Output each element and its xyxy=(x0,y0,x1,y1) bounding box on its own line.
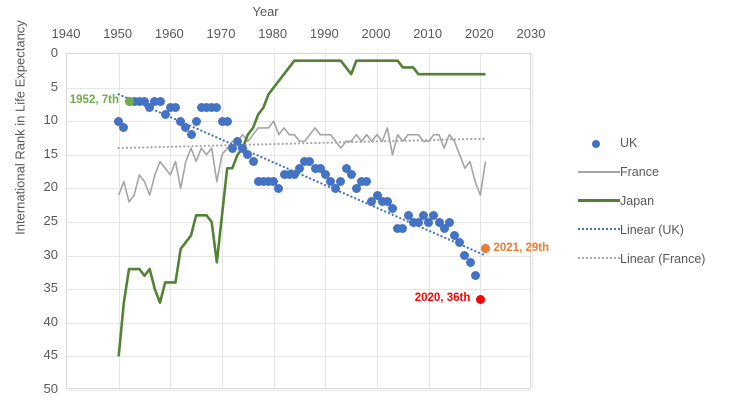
legend-item-label: Linear (France) xyxy=(620,252,705,266)
x-tick-1940: 1940 xyxy=(42,26,90,41)
data-point xyxy=(445,218,454,227)
data-point xyxy=(388,204,397,213)
legend-item-uk[interactable]: UK xyxy=(578,128,738,157)
legend-key-icon xyxy=(578,137,620,149)
legend-key-icon xyxy=(578,224,620,236)
y-axis-title: International Rank in Life Expectancy xyxy=(13,0,28,278)
y-tick-50: 50 xyxy=(32,381,58,396)
series-line-linear-uk- xyxy=(119,94,486,255)
series-line-linear-france- xyxy=(119,139,486,148)
x-tick-1960: 1960 xyxy=(145,26,193,41)
annotation-label: 1952, 7th xyxy=(70,94,119,106)
legend-key-icon xyxy=(578,166,620,178)
x-tick-1990: 1990 xyxy=(300,26,348,41)
x-axis-title: Year xyxy=(0,4,531,19)
chart-container: Year International Rank in Life Expectan… xyxy=(0,0,743,401)
y-tick-0: 0 xyxy=(32,45,58,60)
y-tick-15: 15 xyxy=(32,146,58,161)
data-point xyxy=(249,157,258,166)
legend-key-icon xyxy=(578,195,620,207)
annotation-label: 2020, 36th xyxy=(415,292,471,304)
x-tick-1970: 1970 xyxy=(197,26,245,41)
annotation-marker xyxy=(125,97,134,106)
annotation-marker xyxy=(476,295,485,304)
data-point xyxy=(223,117,232,126)
data-point xyxy=(455,238,464,247)
data-point xyxy=(156,97,165,106)
legend-item-linear-uk[interactable]: Linear (UK) xyxy=(578,215,738,244)
y-tick-45: 45 xyxy=(32,347,58,362)
legend-item-label: France xyxy=(620,165,659,179)
x-tick-1950: 1950 xyxy=(94,26,142,41)
data-point xyxy=(187,130,196,139)
data-point xyxy=(192,117,201,126)
y-tick-40: 40 xyxy=(32,314,58,329)
legend-item-label: Japan xyxy=(620,194,654,208)
data-point xyxy=(466,258,475,267)
x-tick-2000: 2000 xyxy=(352,26,400,41)
data-point xyxy=(471,271,480,280)
y-tick-35: 35 xyxy=(32,280,58,295)
annotation-label: 2021, 29th xyxy=(494,242,550,254)
x-tick-2010: 2010 xyxy=(404,26,452,41)
gridline-horizontal xyxy=(67,390,530,391)
x-tick-1980: 1980 xyxy=(249,26,297,41)
legend-item-label: Linear (UK) xyxy=(620,223,684,237)
legend-key-icon xyxy=(578,253,620,265)
gridline-vertical xyxy=(532,54,533,388)
chart-legend: UKFranceJapanLinear (UK)Linear (France) xyxy=(578,128,738,273)
plot-area: 1952, 7th2021, 29th2020, 36th xyxy=(66,53,531,389)
y-tick-10: 10 xyxy=(32,112,58,127)
x-tick-2030: 2030 xyxy=(507,26,555,41)
legend-item-japan[interactable]: Japan xyxy=(578,186,738,215)
legend-item-france[interactable]: France xyxy=(578,157,738,186)
legend-item-label: UK xyxy=(620,136,637,150)
y-tick-5: 5 xyxy=(32,79,58,94)
x-tick-2020: 2020 xyxy=(455,26,503,41)
y-tick-20: 20 xyxy=(32,179,58,194)
legend-item-linear-france[interactable]: Linear (France) xyxy=(578,244,738,273)
y-tick-25: 25 xyxy=(32,213,58,228)
y-tick-30: 30 xyxy=(32,247,58,262)
